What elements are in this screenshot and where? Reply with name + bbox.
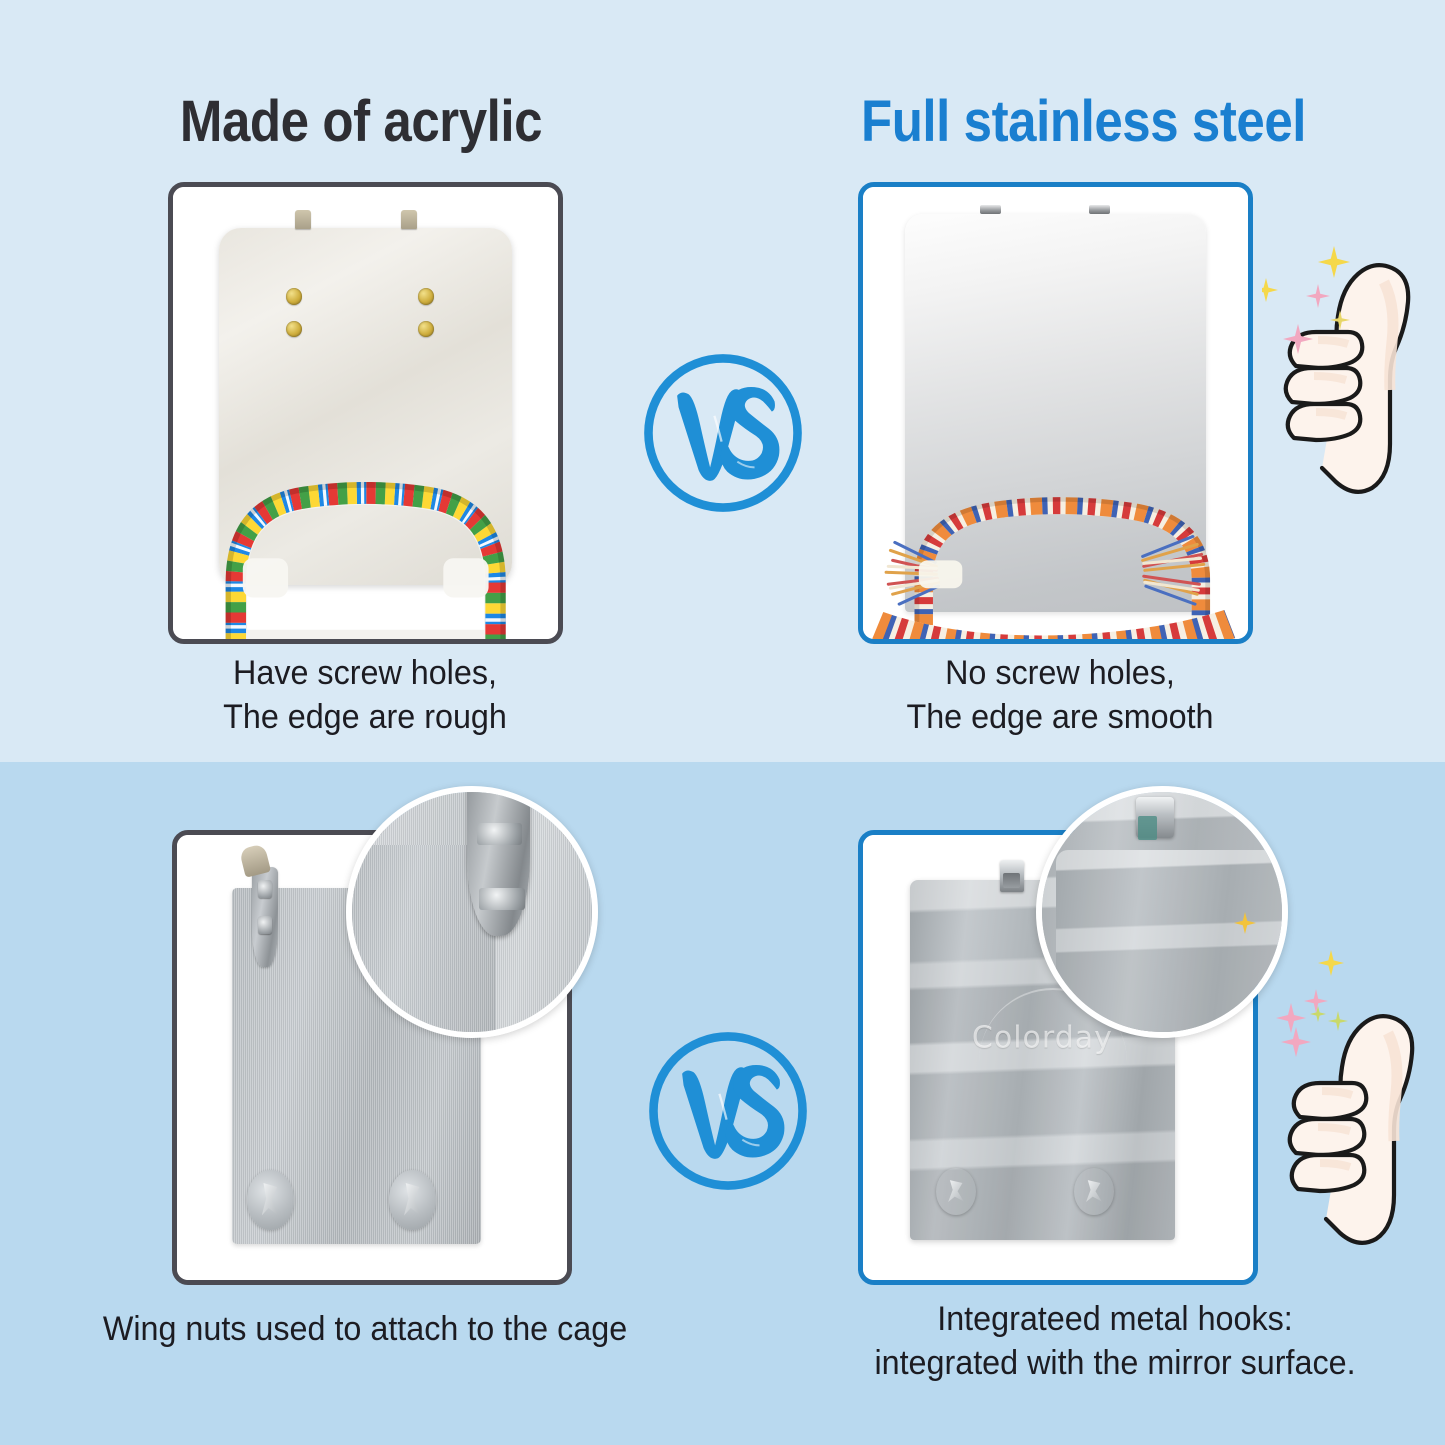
photo-panel-acrylic-mirror: [168, 182, 563, 644]
acrylic-hook-right: [401, 210, 417, 229]
screw-hole: [286, 321, 302, 337]
magnifier-bolted-hook: [346, 786, 598, 1038]
screw-hole: [418, 288, 434, 304]
caption-acrylic: Have screw holes, The edge are rough: [132, 652, 598, 739]
magnified-bolt-nut: [477, 823, 523, 845]
thumbs-up-icon-bottom: [1268, 985, 1445, 1247]
caption-wingnuts: Wing nuts used to attach to the cage: [71, 1308, 660, 1352]
caption-integrated-hook: Integrateed metal hooks: integrated with…: [816, 1298, 1415, 1385]
thumb-screw: [936, 1168, 976, 1215]
screw-hole: [286, 288, 302, 304]
integrated-hook: [1000, 860, 1024, 892]
thumbs-up-icon-top: [1262, 230, 1442, 498]
bolted-hook: [244, 846, 286, 967]
photo-panel-stainless-mirror: [858, 182, 1253, 644]
magnified-hook-shank: [467, 786, 529, 936]
photo-acrylic-mirror: [173, 187, 558, 639]
stainless-clip-right: [1089, 205, 1110, 213]
caption-stainless: No screw holes, The edge are smooth: [827, 652, 1293, 739]
magnified-plate: [1056, 850, 1286, 1037]
wing-nut: [389, 1170, 436, 1231]
hook-bolt-nut: [258, 880, 272, 898]
vs-badge-top: [637, 347, 809, 519]
magnified-bolt-nut: [479, 888, 525, 910]
rainbow-rope-perch: [204, 445, 527, 639]
screw-hole: [418, 321, 434, 337]
sparkle-icon: [1318, 950, 1344, 976]
sparkle-icon: [1234, 912, 1256, 934]
vs-badge-bottom: [642, 1025, 814, 1197]
magnifier-integrated-hook: [1036, 786, 1288, 1038]
heading-left: Made of acrylic: [43, 88, 678, 155]
thumb-screw: [1074, 1168, 1114, 1215]
wing-nut: [247, 1170, 294, 1231]
infographic-canvas: Made of acrylic Full stainless steel: [0, 0, 1445, 1445]
stainless-clip-left: [980, 205, 1001, 213]
photo-stainless-mirror: [863, 187, 1248, 639]
magnified-hook-shadow: [1138, 816, 1157, 840]
hook-lip: [238, 843, 271, 878]
acrylic-hook-left: [295, 210, 311, 229]
heading-right: Full stainless steel: [765, 88, 1401, 155]
hook-bolt-nut: [258, 916, 272, 934]
twisted-rope-perch: [871, 449, 1241, 639]
